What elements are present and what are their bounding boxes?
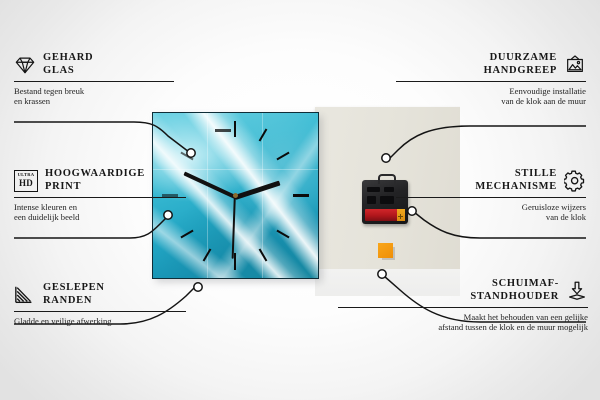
callout-heading: GEHARD GLAS [14, 52, 174, 77]
movement-detail [380, 196, 394, 204]
callout-duurzame-handgreep: DUURZAME HANDGREEP Eenvoudige installati… [396, 52, 586, 106]
callout-heading: STILLE MECHANISME [396, 168, 586, 193]
diamond-icon [14, 54, 36, 76]
minute-hand [183, 172, 235, 199]
callout-divider [14, 197, 186, 198]
clock-tick [234, 253, 236, 270]
callout-hoogwaardige-print: ultra HD HOOGWAARDIGE PRINT Intense kleu… [14, 168, 186, 222]
callout-heading: GESLEPEN RANDEN [14, 282, 186, 307]
clock-tick [180, 152, 193, 161]
callout-description: Eenvoudige installatie van de klok aan d… [396, 86, 586, 107]
clock-tick [215, 129, 231, 132]
callout-schuimafstandhouder: SCHUIMAF- STANDHOUDER Maakt het behouden… [338, 278, 588, 332]
foam-spacer [378, 243, 393, 258]
callout-description: Intense kleuren en een duidelijk beeld [14, 202, 186, 223]
gear-icon [564, 170, 586, 192]
infographic-canvas: GEHARD GLAS Bestand tegen breuk en krass… [0, 0, 600, 400]
callout-description: Bestand tegen breuk en krassen [14, 86, 174, 107]
clock-tick [293, 194, 309, 197]
clock-tick [276, 230, 289, 239]
ultra-hd-icon-main-label: HD [19, 179, 33, 188]
clock-tick [259, 248, 268, 261]
ultra-hd-icon: ultra HD [14, 170, 38, 192]
callout-stille-mechanisme: STILLE MECHANISME Geruisloze wijzers van… [396, 168, 586, 222]
callout-description: Maakt het behouden van een gelijke afsta… [338, 312, 588, 333]
second-hand [232, 197, 236, 259]
callout-divider [338, 307, 588, 308]
callout-heading: SCHUIMAF- STANDHOUDER [338, 278, 588, 303]
down-arrow-stack-icon [566, 280, 588, 302]
callout-title: DUURZAME HANDGREEP [484, 52, 557, 77]
picture-frame-hanger-icon [564, 54, 586, 76]
callout-title: HOOGWAARDIGE PRINT [45, 168, 145, 193]
clock-center-pin [233, 193, 238, 198]
movement-detail [367, 196, 376, 204]
callout-title: STILLE MECHANISME [475, 168, 557, 193]
callout-divider [14, 311, 186, 312]
callout-divider [14, 81, 174, 82]
callout-heading: DUURZAME HANDGREEP [396, 52, 586, 77]
beveled-edge-icon [14, 284, 36, 306]
movement-detail [367, 187, 380, 192]
callout-title: GEHARD GLAS [43, 52, 93, 77]
callout-divider [396, 81, 586, 82]
clock-tick [234, 121, 236, 137]
callout-description: Geruisloze wijzers van de klok [396, 202, 586, 223]
callout-title: SCHUIMAF- STANDHOUDER [470, 278, 559, 303]
callout-divider [396, 197, 586, 198]
movement-hanger [378, 174, 396, 184]
clock-tick [259, 128, 268, 141]
hour-hand [234, 181, 280, 200]
callout-title: GESLEPEN RANDEN [43, 282, 105, 307]
clock-tick [276, 152, 289, 161]
movement-detail [384, 187, 394, 192]
callout-gehard-glas: GEHARD GLAS Bestand tegen breuk en krass… [14, 52, 174, 106]
callout-heading: ultra HD HOOGWAARDIGE PRINT [14, 168, 186, 193]
callout-description: Gladde en veilige afwerking [14, 316, 186, 326]
clock-tick [180, 230, 193, 239]
callout-geslepen-randen: GESLEPEN RANDEN Gladde en veilige afwerk… [14, 282, 186, 326]
